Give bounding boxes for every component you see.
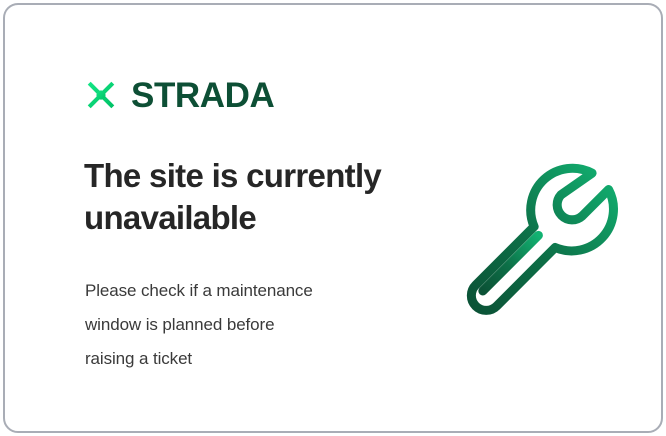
description-line: Please check if a maintenance <box>85 274 415 308</box>
strada-asterisk-icon <box>81 75 121 115</box>
description-line: raising a ticket <box>85 342 415 376</box>
description-line: window is planned before <box>85 308 415 342</box>
error-page: STRADA The site is currently unavailable… <box>0 0 666 436</box>
page-title: The site is currently unavailable <box>84 155 424 239</box>
page-description: Please check if a maintenance window is … <box>85 274 415 376</box>
brand-logo: STRADA <box>81 75 274 115</box>
wrench-icon <box>457 157 625 325</box>
status-card: STRADA The site is currently unavailable… <box>3 3 663 433</box>
brand-name: STRADA <box>131 78 274 113</box>
